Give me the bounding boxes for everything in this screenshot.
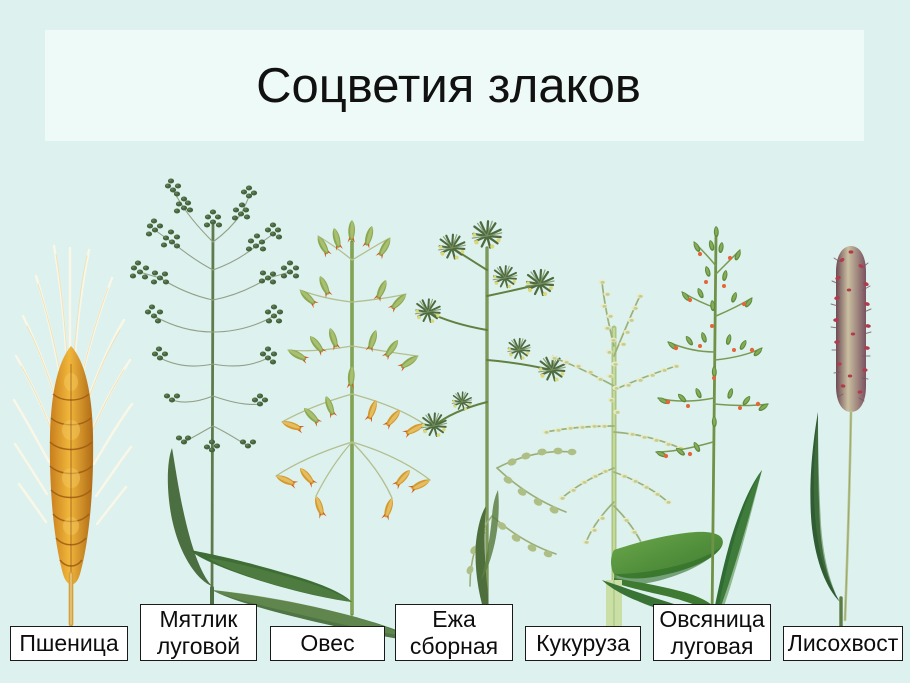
label-box-bluegrass[interactable]: Мятлик луговой: [140, 604, 257, 661]
label-line-bluegrass-2: луговой: [157, 633, 240, 660]
label-line-oat-1: Овес: [300, 630, 354, 657]
label-line-maize-1: Кукуруза: [536, 630, 630, 657]
plant-foxtail: [810, 246, 871, 652]
label-line-wheat-1: Пшеница: [19, 630, 118, 657]
plant-wheat: [14, 246, 132, 624]
label-line-cocksfoot-1: Ежа: [432, 606, 476, 633]
slide-canvas: Соцветия злаков: [0, 0, 910, 683]
bluegrass-stem: [212, 222, 213, 588]
plant-oat: [190, 220, 432, 614]
label-line-foxtail-1: Лисохвост: [788, 630, 899, 657]
label-box-cocksfoot[interactable]: Ежа сборная: [395, 604, 513, 661]
plant-cocksfoot: [415, 221, 576, 620]
bluegrass-spikelets: [130, 179, 299, 453]
label-box-wheat[interactable]: Пшеница: [10, 626, 128, 661]
foxtail-spike: [836, 246, 866, 412]
label-box-maize[interactable]: Кукуруза: [525, 626, 641, 661]
cocksfoot-clusters: [415, 221, 565, 436]
label-line-bluegrass-1: Мятлик: [160, 606, 238, 633]
label-box-fescue[interactable]: Овсяница луговая: [653, 604, 771, 661]
label-line-fescue-1: Овсяница: [659, 606, 764, 633]
title-banner: Соцветия злаков: [45, 30, 864, 141]
label-line-cocksfoot-2: сборная: [410, 633, 498, 660]
label-line-fescue-2: луговая: [671, 633, 754, 660]
label-box-oat[interactable]: Овес: [270, 626, 385, 661]
label-box-foxtail[interactable]: Лисохвост: [783, 626, 903, 661]
fescue-stem: [712, 236, 716, 620]
bluegrass-leaf-left: [168, 448, 212, 586]
page-title: Соцветия злаков: [45, 30, 864, 141]
